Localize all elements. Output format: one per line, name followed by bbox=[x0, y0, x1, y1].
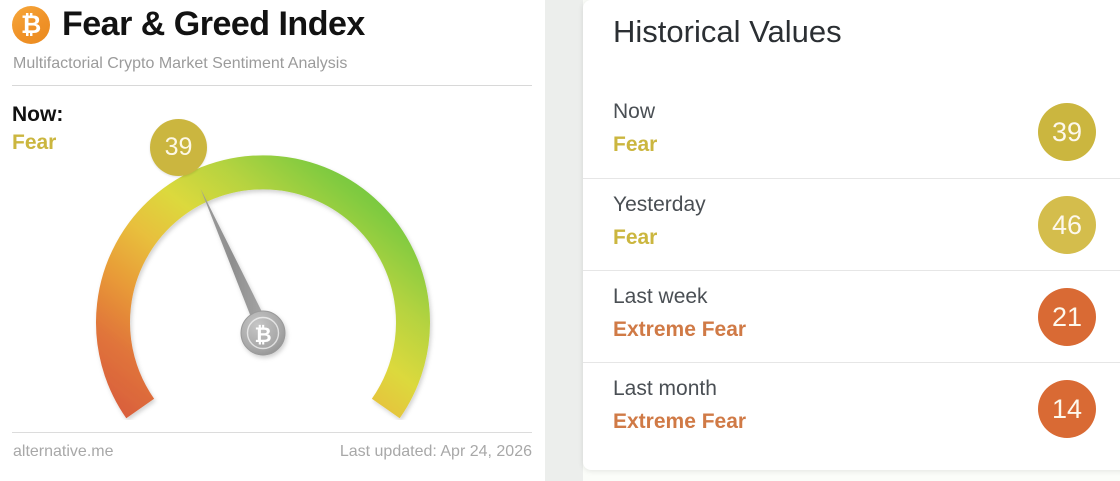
history-classification: Extreme Fear bbox=[613, 410, 746, 434]
history-period: Yesterday bbox=[613, 193, 706, 217]
bitcoin-icon: ₿ bbox=[12, 6, 50, 44]
gauge-needle: ₿ bbox=[201, 189, 286, 356]
history-value: 39 bbox=[1052, 119, 1082, 146]
gauge-svg: ₿ bbox=[60, 120, 490, 420]
historical-values-panel: Historical Values Now Fear 39 Yesterday … bbox=[583, 0, 1120, 470]
status-badge: 46 bbox=[1038, 196, 1096, 254]
app-header: ₿ Fear & Greed Index bbox=[12, 5, 365, 44]
history-classification: Fear bbox=[613, 226, 657, 250]
list-item[interactable]: Now Fear 39 bbox=[583, 86, 1120, 178]
status-badge: 14 bbox=[1038, 380, 1096, 438]
fear-greed-widget: ₿ Fear & Greed Index Multifactorial Cryp… bbox=[0, 0, 1120, 481]
fear-greed-gauge: ₿ bbox=[60, 120, 490, 420]
gauge-value-text: 39 bbox=[165, 135, 193, 160]
now-label: Now: bbox=[12, 103, 63, 127]
list-item[interactable]: Yesterday Fear 46 bbox=[583, 178, 1120, 270]
status-badge: 21 bbox=[1038, 288, 1096, 346]
source-label[interactable]: alternative.me bbox=[13, 443, 114, 461]
history-value: 14 bbox=[1052, 396, 1082, 423]
history-period: Now bbox=[613, 100, 655, 124]
gauge-panel: ₿ Fear & Greed Index Multifactorial Cryp… bbox=[0, 0, 545, 481]
last-updated-label: Last updated: Apr 24, 2026 bbox=[340, 443, 532, 461]
status-badge: 39 bbox=[1038, 103, 1096, 161]
gauge-arc bbox=[113, 172, 413, 408]
list-item[interactable]: Last week Extreme Fear 21 bbox=[583, 270, 1120, 362]
page-subtitle: Multifactorial Crypto Market Sentiment A… bbox=[13, 55, 347, 73]
list-item[interactable]: Last month Extreme Fear 14 bbox=[583, 362, 1120, 454]
history-classification: Extreme Fear bbox=[613, 318, 746, 342]
history-period: Last week bbox=[613, 285, 708, 309]
history-classification: Fear bbox=[613, 133, 657, 157]
page-title: Fear & Greed Index bbox=[62, 5, 365, 44]
history-period: Last month bbox=[613, 377, 717, 401]
history-value: 21 bbox=[1052, 304, 1082, 331]
panel-gutter bbox=[545, 0, 583, 481]
historical-values-title: Historical Values bbox=[613, 14, 842, 50]
footer-divider bbox=[12, 432, 532, 433]
bitcoin-glyph: ₿ bbox=[21, 12, 41, 37]
now-classification: Fear bbox=[12, 131, 56, 155]
gauge-value-bubble: 39 bbox=[150, 119, 207, 176]
historical-values-list: Now Fear 39 Yesterday Fear 46 Last week … bbox=[583, 86, 1120, 454]
history-value: 46 bbox=[1052, 212, 1082, 239]
header-divider bbox=[12, 85, 532, 86]
needle-bitcoin-glyph: ₿ bbox=[254, 323, 271, 347]
